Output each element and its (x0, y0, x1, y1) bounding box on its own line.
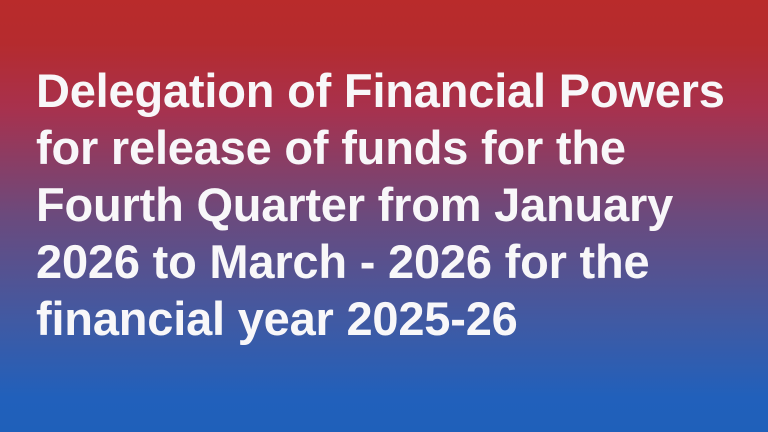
banner-headline: Delegation of Financial Powers for relea… (36, 62, 742, 347)
notice-banner: Delegation of Financial Powers for relea… (0, 0, 768, 432)
